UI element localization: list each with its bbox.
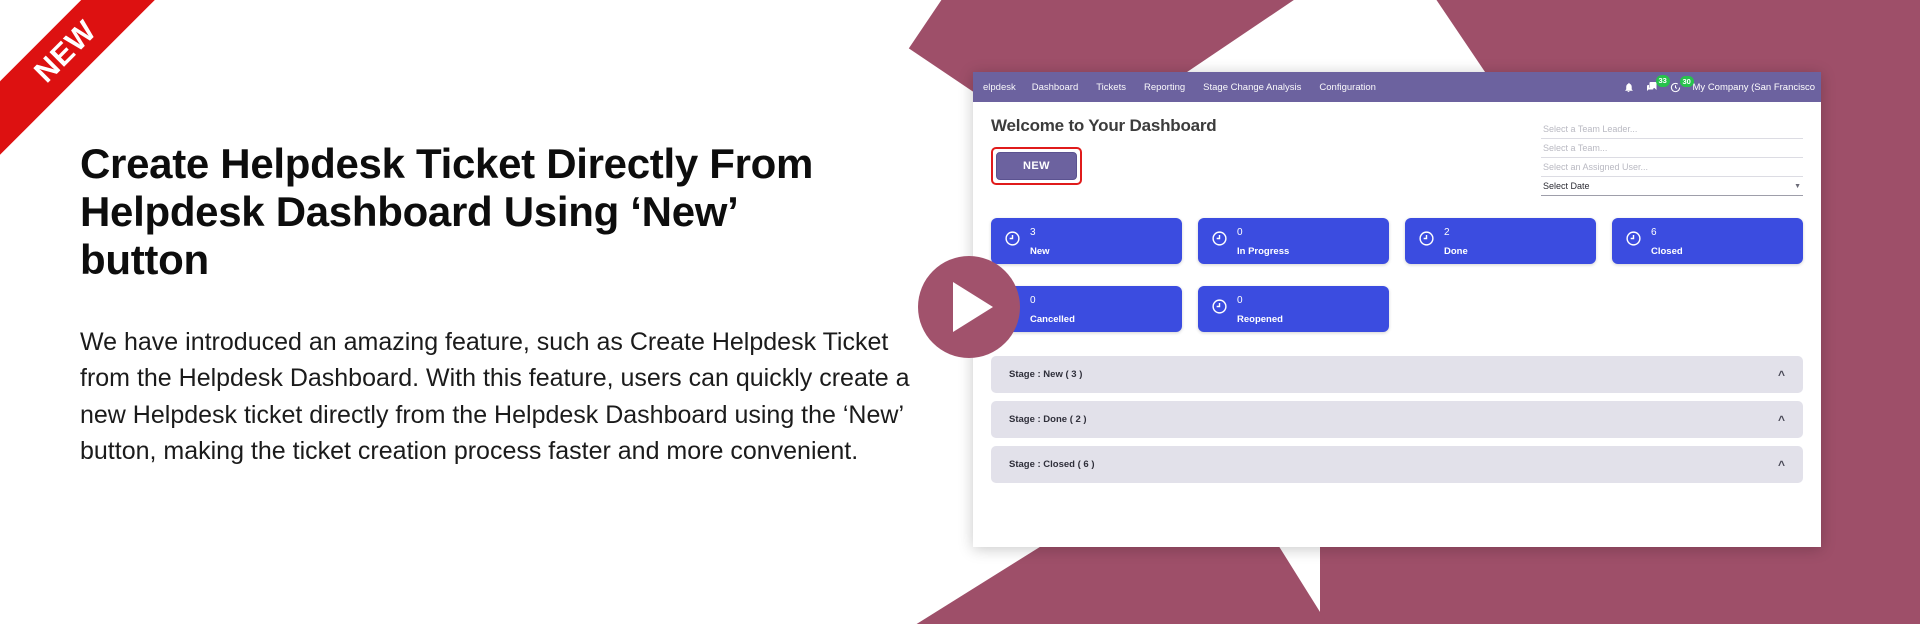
messages-count-badge: 33 (1656, 75, 1670, 87)
assigned-user-filter-label: Select an Assigned User... (1543, 162, 1648, 172)
tiles-spacer (1405, 286, 1596, 332)
headline-line-1: Create Helpdesk Ticket Directly From (80, 140, 813, 187)
nav-item-stage-change-analysis[interactable]: Stage Change Analysis (1203, 82, 1301, 93)
stage-label: Stage : Closed ( 6 ) (1009, 459, 1095, 470)
team-filter[interactable]: Select a Team... (1541, 139, 1803, 158)
clock-icon (1418, 230, 1435, 252)
clock-icon[interactable]: 30 (1670, 82, 1681, 93)
stage-label: Stage : Done ( 2 ) (1009, 414, 1087, 425)
clock-icon (1211, 298, 1228, 320)
play-button[interactable] (918, 256, 1020, 358)
kpi-count: 0 (1237, 227, 1243, 238)
page-title: Create Helpdesk Ticket Directly From Hel… (80, 140, 870, 284)
clock-icon (1625, 230, 1642, 252)
new-button-highlight: NEW (991, 147, 1082, 185)
kpi-tiles-row-2: 0 Cancelled 0 Reopened (991, 286, 1803, 332)
kpi-label: Done (1444, 246, 1468, 257)
kpi-tile-done[interactable]: 2 Done (1405, 218, 1596, 264)
chevron-up-icon[interactable]: ^ (1778, 413, 1785, 427)
welcome-block: Welcome to Your Dashboard NEW (991, 116, 1217, 185)
nav-item-dashboard[interactable]: Dashboard (1032, 82, 1078, 93)
kpi-count: 2 (1444, 227, 1450, 238)
kpi-label: Reopened (1237, 314, 1283, 325)
date-filter-label: Select Date (1543, 181, 1590, 191)
kpi-label: Closed (1651, 246, 1683, 257)
kpi-label: New (1030, 246, 1050, 257)
kpi-tile-reopened[interactable]: 0 Reopened (1198, 286, 1389, 332)
promo-description: We have introduced an amazing feature, s… (80, 324, 910, 470)
chevron-down-icon: ▼ (1794, 183, 1801, 190)
team-leader-filter[interactable]: Select a Team Leader... (1541, 120, 1803, 139)
kpi-tile-closed[interactable]: 6 Closed (1612, 218, 1803, 264)
stage-row-closed[interactable]: Stage : Closed ( 6 ) ^ (991, 446, 1803, 483)
new-ribbon-label: NEW (0, 0, 180, 176)
new-ribbon: NEW (0, 0, 180, 180)
team-leader-filter-label: Select a Team Leader... (1543, 124, 1637, 134)
stage-label: Stage : New ( 3 ) (1009, 369, 1082, 380)
assigned-user-filter[interactable]: Select an Assigned User... (1541, 158, 1803, 177)
stage-row-new[interactable]: Stage : New ( 3 ) ^ (991, 356, 1803, 393)
kpi-label: Cancelled (1030, 314, 1075, 325)
activities-count-badge: 30 (1680, 76, 1694, 88)
dashboard-body: Welcome to Your Dashboard NEW Select a T… (973, 102, 1821, 547)
navbar-brand[interactable]: elpdesk (983, 82, 1016, 93)
kpi-label: In Progress (1237, 246, 1289, 257)
headline-line-2: Helpdesk Dashboard Using ‘New’ button (80, 188, 736, 283)
new-ticket-button[interactable]: NEW (996, 152, 1077, 180)
clock-icon (1211, 230, 1228, 252)
clock-icon (1004, 230, 1021, 252)
kpi-count: 0 (1237, 295, 1243, 306)
kpi-tiles-row-1: 3 New 0 In Progress 2 Done (991, 218, 1803, 264)
chevron-up-icon[interactable]: ^ (1778, 458, 1785, 472)
tiles-spacer (1612, 286, 1803, 332)
nav-item-reporting[interactable]: Reporting (1144, 82, 1185, 93)
filter-panel: Select a Team Leader... Select a Team...… (1541, 120, 1803, 196)
play-icon (953, 282, 993, 332)
stage-accordion: Stage : New ( 3 ) ^ Stage : Done ( 2 ) ^… (991, 356, 1803, 483)
welcome-title: Welcome to Your Dashboard (991, 116, 1217, 136)
nav-item-configuration[interactable]: Configuration (1319, 82, 1376, 93)
date-filter[interactable]: Select Date ▼ (1541, 177, 1803, 196)
kpi-count: 6 (1651, 227, 1657, 238)
navbar: elpdesk Dashboard Tickets Reporting Stag… (973, 72, 1821, 102)
company-selector[interactable]: My Company (San Francisco (1693, 82, 1815, 93)
bell-icon[interactable] (1623, 82, 1634, 93)
kpi-count: 3 (1030, 227, 1036, 238)
kpi-tile-new[interactable]: 3 New (991, 218, 1182, 264)
kpi-tile-in-progress[interactable]: 0 In Progress (1198, 218, 1389, 264)
dashboard-screenshot: elpdesk Dashboard Tickets Reporting Stag… (973, 72, 1821, 547)
stage-row-done[interactable]: Stage : Done ( 2 ) ^ (991, 401, 1803, 438)
kpi-count: 0 (1030, 295, 1036, 306)
nav-item-tickets[interactable]: Tickets (1096, 82, 1126, 93)
promo-text-column: Create Helpdesk Ticket Directly From Hel… (80, 140, 940, 470)
team-filter-label: Select a Team... (1543, 143, 1607, 153)
chevron-up-icon[interactable]: ^ (1778, 368, 1785, 382)
chat-icon[interactable]: 33 (1646, 81, 1658, 93)
